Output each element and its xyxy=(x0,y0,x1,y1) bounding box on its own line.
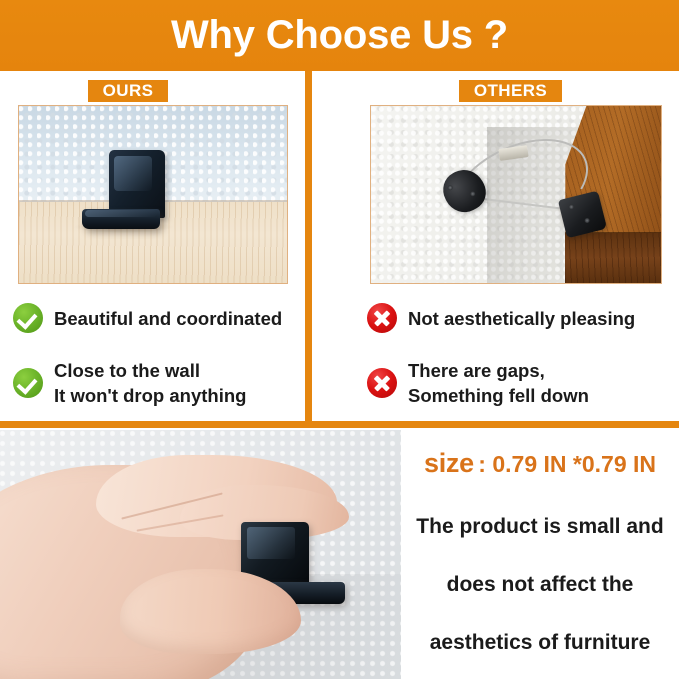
wood-furniture-side xyxy=(565,233,661,283)
bracket-highlight xyxy=(247,527,295,559)
section-divider xyxy=(0,421,679,428)
feature-label: Not aesthetically pleasing xyxy=(408,306,635,331)
cross-icon xyxy=(367,303,397,333)
size-spec: size : 0.79 IN *0.79 IN xyxy=(401,448,679,479)
feature-label: Beautiful and coordinated xyxy=(54,306,282,331)
description-line: aesthetics of furniture xyxy=(401,631,679,655)
header-banner: Why Choose Us ? xyxy=(0,0,679,71)
screw-icon xyxy=(585,217,591,223)
feature-label: There are gaps, Something fell down xyxy=(408,358,589,408)
ours-product-photo xyxy=(18,105,288,284)
cross-icon xyxy=(367,368,397,398)
feature-row: There are gaps, Something fell down xyxy=(367,358,589,408)
feature-row: Beautiful and coordinated xyxy=(13,303,282,333)
page-title: Why Choose Us ? xyxy=(0,10,679,60)
description-line: does not affect the xyxy=(401,573,679,597)
badge-others: OTHERS xyxy=(459,80,562,102)
size-value: : 0.79 IN *0.79 IN xyxy=(478,451,656,477)
size-label: size xyxy=(424,448,474,478)
check-icon xyxy=(13,303,43,333)
feature-row: Close to the wall It won't drop anything xyxy=(13,358,246,408)
others-product-photo xyxy=(370,105,662,284)
bracket-highlight xyxy=(114,156,152,191)
hand-scale-photo xyxy=(0,430,401,679)
screw-icon xyxy=(468,190,475,197)
description-line: The product is small and xyxy=(401,515,679,539)
feature-label: Close to the wall It won't drop anything xyxy=(54,358,246,408)
badge-ours: OURS xyxy=(88,80,168,102)
screw-icon xyxy=(447,184,454,191)
feature-row: Not aesthetically pleasing xyxy=(367,303,635,333)
check-icon xyxy=(13,368,43,398)
infographic-page: Why Choose Us ? OURS Beautiful and coord… xyxy=(0,0,679,679)
column-divider xyxy=(305,71,312,428)
screw-icon xyxy=(569,203,575,209)
bracket-base-highlight xyxy=(85,210,157,217)
